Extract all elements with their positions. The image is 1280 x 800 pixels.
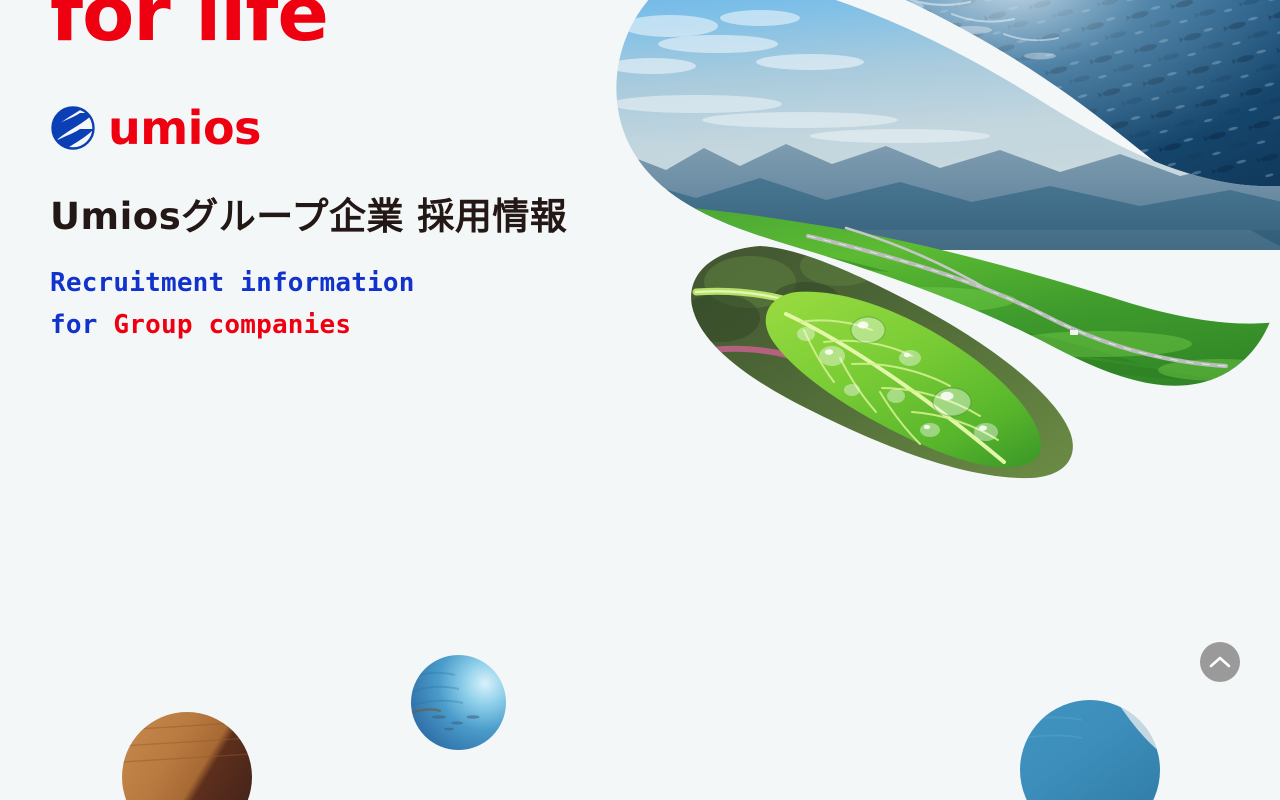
thumb-underwater-light[interactable] [411, 655, 506, 750]
subtitle-line-1: Recruitment information [50, 268, 415, 298]
green-leaf-dewdrops-blob [670, 230, 1100, 500]
hero-artwork [600, 0, 1280, 500]
subtitle-line-2-accent: Group companies [113, 310, 351, 340]
subtitle-line-2-prefix: for [50, 310, 113, 340]
chevron-up-icon [1209, 655, 1231, 669]
hero-copy: for life umios Umiosグループ企業 採用情報 Recruitm… [50, 0, 610, 347]
landscape-sky-hills-blob [600, 0, 1280, 420]
umios-logo[interactable]: umios [50, 102, 610, 154]
thumb-blue-water[interactable] [1020, 700, 1160, 800]
ocean-fish-school-blob [780, 0, 1280, 270]
page-root: for life umios Umiosグループ企業 採用情報 Recruitm… [0, 0, 1280, 800]
umios-wordmark: umios [108, 105, 261, 151]
scroll-to-top-button[interactable] [1200, 642, 1240, 682]
page-subtitle-en: Recruitment information for Group compan… [50, 262, 610, 346]
thumb-wooden-surface[interactable] [122, 712, 252, 800]
umios-globe-mark [50, 105, 96, 151]
page-title-jp: Umiosグループ企業 採用情報 [50, 193, 610, 240]
hero-headline-tail: for life [50, 0, 610, 42]
